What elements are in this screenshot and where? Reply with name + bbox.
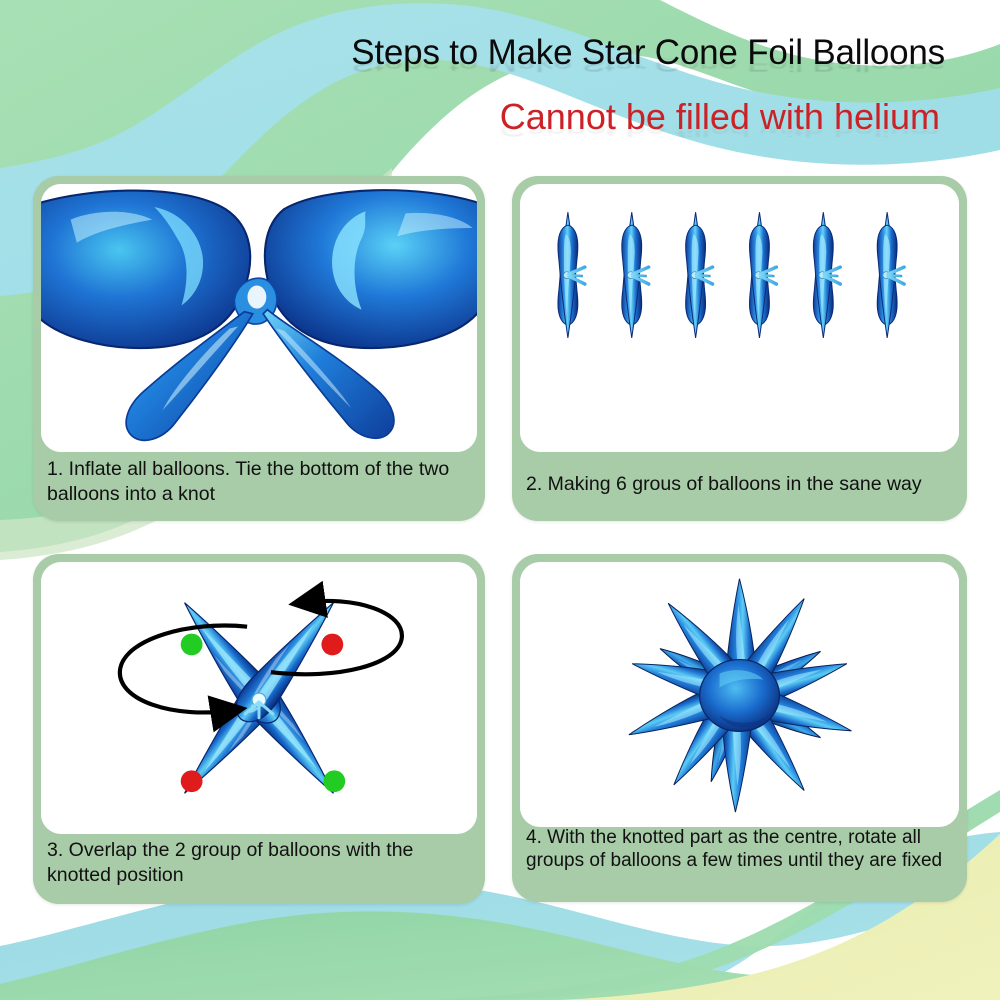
marker-red-upper-right	[321, 634, 343, 656]
step-1-image	[41, 184, 477, 452]
step-card-1: 1. Inflate all balloons. Tie the bottom …	[33, 176, 485, 521]
step-4-caption: 4. With the knotted part as the centre, …	[512, 824, 967, 902]
balloon-right	[265, 190, 477, 348]
step-card-2: 2. Making 6 grous of balloons in the san…	[512, 176, 967, 521]
step-3-caption: 3. Overlap the 2 group of balloons with …	[33, 832, 485, 904]
step-card-3: 3. Overlap the 2 group of balloons with …	[33, 554, 485, 904]
star-core	[700, 660, 780, 732]
marker-green-lower-right	[323, 770, 345, 792]
marker-green-upper-left	[181, 634, 203, 656]
step-3-image	[41, 562, 477, 834]
marker-red-lower-left	[181, 770, 203, 792]
infographic-page: Steps to Make Star Cone Foil Balloons St…	[0, 0, 1000, 1000]
step-card-4: 4. With the knotted part as the centre, …	[512, 554, 967, 902]
step-2-caption: 2. Making 6 grous of balloons in the san…	[512, 451, 967, 521]
header: Steps to Make Star Cone Foil Balloons St…	[0, 0, 1000, 160]
page-title: Steps to Make Star Cone Foil Balloons	[0, 33, 945, 73]
step-1-caption: 1. Inflate all balloons. Tie the bottom …	[33, 451, 485, 521]
step-4-image	[520, 562, 959, 827]
page-subtitle: Cannot be filled with helium	[0, 96, 940, 138]
balloon-left	[41, 191, 250, 348]
step-2-image	[520, 184, 959, 452]
